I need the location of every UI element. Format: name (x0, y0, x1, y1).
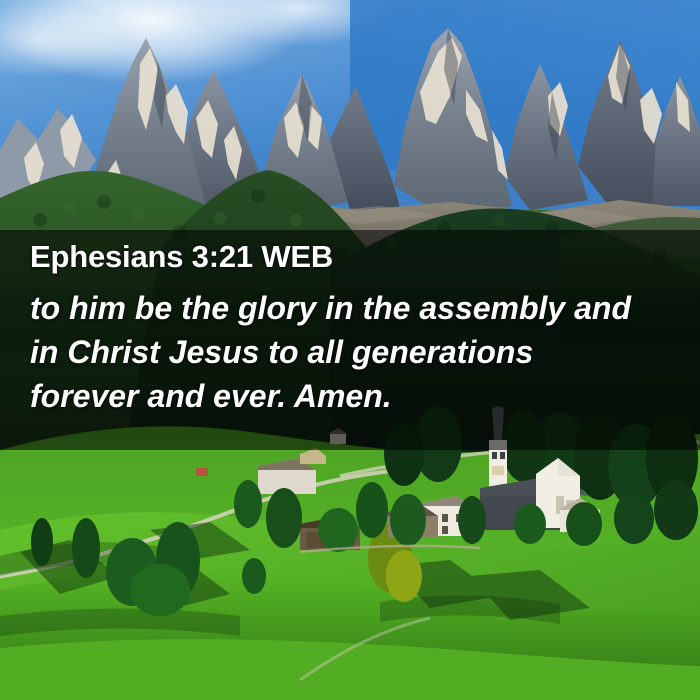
verse-image-canvas: Ephesians 3:21 WEB to him be the glory i… (0, 0, 700, 700)
verse-body: to him be the glory in the assembly and … (30, 286, 700, 418)
verse-reference: Ephesians 3:21 WEB (30, 230, 700, 284)
verse-line-3: forever and ever. Amen. (30, 374, 700, 418)
verse-line-1: to him be the glory in the assembly and (30, 286, 700, 330)
verse-text-block: Ephesians 3:21 WEB to him be the glory i… (0, 230, 700, 418)
verse-line-2: in Christ Jesus to all generations (30, 330, 700, 374)
